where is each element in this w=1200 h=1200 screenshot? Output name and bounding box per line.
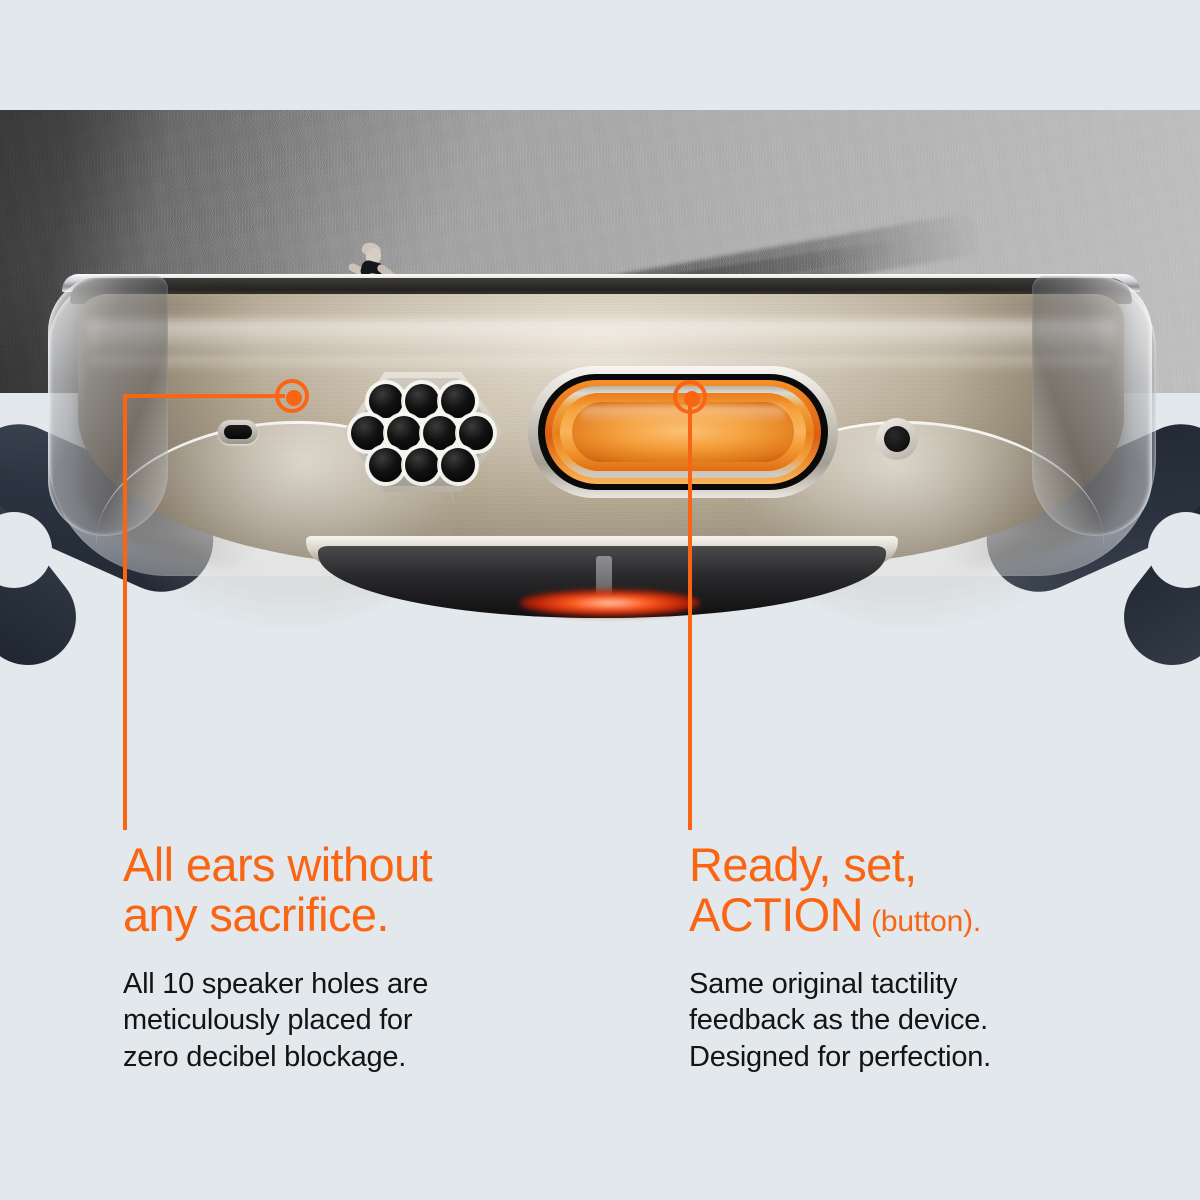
callout-action-line-vertical (688, 397, 692, 830)
action-headline: Ready, set, ACTION (button). (689, 840, 1200, 940)
page-root: All ears without any sacrifice. All 10 s… (0, 0, 1200, 1200)
callout-speaker-marker[interactable] (275, 379, 309, 413)
titanium-highlight-band (86, 320, 1116, 354)
speaker-hole (369, 448, 403, 482)
heart-rate-sensor-glow (520, 590, 700, 616)
speaker-headline: All ears without any sacrifice. (123, 840, 643, 940)
speaker-hole (423, 416, 457, 450)
speaker-hole (441, 448, 475, 482)
case-wing-right (1032, 276, 1152, 536)
microphone-port-opening (224, 425, 252, 439)
action-headline-qualifier: (button). (863, 905, 981, 938)
product-watch-assembly (0, 260, 1200, 660)
callout-speaker-line-vertical (123, 394, 127, 830)
speaker-body-text: All 10 speaker holes are meticulously pl… (123, 966, 643, 1076)
action-body-text: Same original tactility feedback as the … (689, 966, 1200, 1076)
case-wing-left (48, 276, 168, 536)
callout-action-marker[interactable] (673, 380, 707, 414)
speaker-hole (405, 384, 439, 418)
feature-block-action-button: Ready, set, ACTION (button). Same origin… (689, 840, 1200, 1075)
speaker-hole (441, 384, 475, 418)
speaker-hole (351, 416, 385, 450)
speaker-hole (387, 416, 421, 450)
depth-sensor-port-opening (884, 426, 910, 452)
speaker-hole (405, 448, 439, 482)
callout-speaker-line-horizontal (125, 394, 285, 398)
speaker-hole (459, 416, 493, 450)
speaker-hole (369, 384, 403, 418)
feature-block-speaker: All ears without any sacrifice. All 10 s… (123, 840, 643, 1075)
